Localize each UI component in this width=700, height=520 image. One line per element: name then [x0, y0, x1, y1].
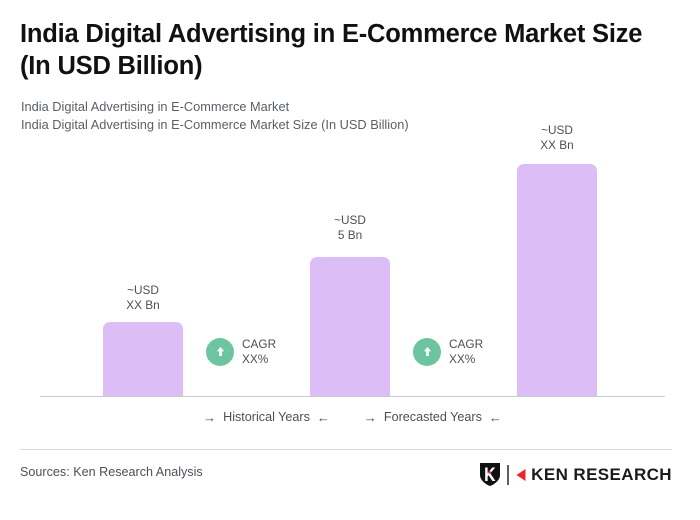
cagr-badge-1-line1: CAGR [242, 337, 276, 352]
cagr-up-arrow-icon [413, 338, 441, 366]
bar-historical[interactable] [103, 322, 183, 396]
legend-historical-years: → Historical Years ← [203, 410, 330, 424]
arrow-left-icon: ← [317, 411, 330, 424]
legend-forecasted-label: Forecasted Years [384, 410, 482, 424]
cagr-badge-1-line2: XX% [242, 352, 276, 367]
bar-value-label-1: ~USD XX Bn [103, 283, 183, 312]
bar-value-label-2-line2: 5 Bn [310, 228, 390, 243]
arrow-left-icon: ← [489, 411, 502, 424]
cagr-badge-2: CAGR XX% [413, 337, 483, 366]
cagr-badge-2-line2: XX% [449, 352, 483, 367]
footer-divider [20, 449, 672, 450]
legend-forecasted-years: → Forecasted Years ← [364, 410, 502, 424]
bar-forecast-end[interactable] [517, 164, 597, 396]
axis-year-legend: → Historical Years ← → Forecasted Years … [40, 410, 665, 424]
cagr-badge-1-text: CAGR XX% [242, 337, 276, 366]
bar-value-label-3-line2: XX Bn [517, 138, 597, 153]
bar-value-label-2: ~USD 5 Bn [310, 213, 390, 242]
bar-value-label-1-line1: ~USD [103, 283, 183, 298]
cagr-badge-2-line1: CAGR [449, 337, 483, 352]
chart-page: India Digital Advertising in E-Commerce … [0, 0, 700, 520]
cagr-badge-1: CAGR XX% [206, 337, 276, 366]
arrow-right-icon: → [364, 411, 377, 424]
bar-value-label-3: ~USD XX Bn [517, 123, 597, 152]
ken-research-logo: KEN RESEARCH [479, 462, 672, 487]
ken-shield-icon [479, 462, 501, 487]
arrow-right-icon: → [203, 411, 216, 424]
bar-value-label-1-line2: XX Bn [103, 298, 183, 313]
chart-plot-area: ~USD XX Bn CAGR XX% ~USD 5 Bn [0, 0, 700, 520]
legend-historical-label: Historical Years [223, 410, 310, 424]
axis-baseline [40, 396, 665, 397]
logo-wordmark: KEN RESEARCH [531, 466, 672, 483]
logo-red-triangle-icon [515, 467, 527, 483]
cagr-badge-2-text: CAGR XX% [449, 337, 483, 366]
sources-text: Sources: Ken Research Analysis [20, 465, 203, 479]
bar-value-label-3-line1: ~USD [517, 123, 597, 138]
logo-divider-icon [505, 464, 511, 486]
bar-value-label-2-line1: ~USD [310, 213, 390, 228]
cagr-up-arrow-icon [206, 338, 234, 366]
bar-forecast-mid[interactable] [310, 257, 390, 396]
